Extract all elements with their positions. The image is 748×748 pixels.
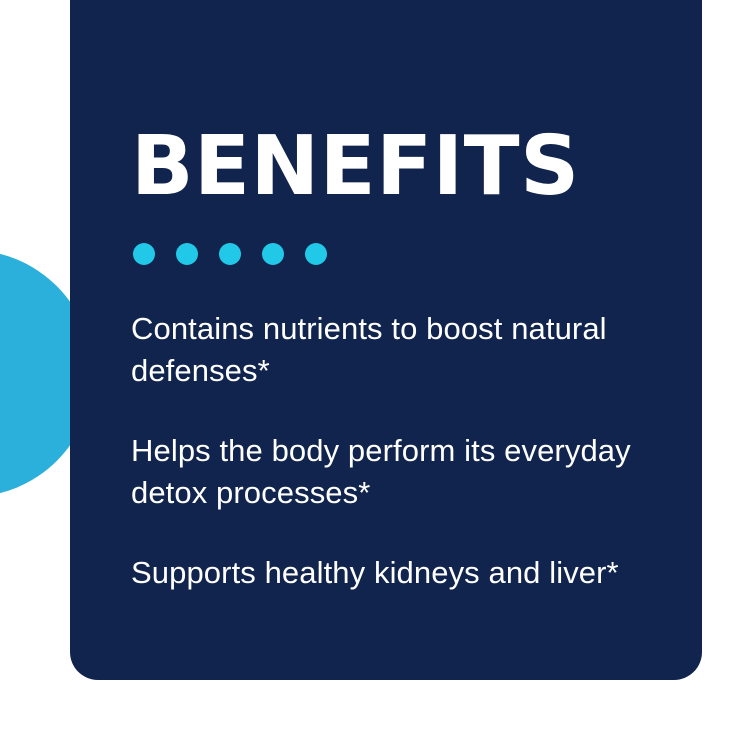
divider-dot-1 <box>133 243 155 265</box>
page-title: BENEFITS <box>131 126 580 208</box>
divider-dot-4 <box>262 243 284 265</box>
list-item: Contains nutrients to boost natural defe… <box>131 308 641 392</box>
benefit-list: Contains nutrients to boost natural defe… <box>131 308 641 594</box>
list-item: Helps the body perform its everyday deto… <box>131 430 641 514</box>
divider-dot-5 <box>305 243 327 265</box>
benefits-graphic: BENEFITS Contains nutrients to boost nat… <box>0 0 748 748</box>
list-item: Supports healthy kidneys and liver* <box>131 552 641 594</box>
benefits-card: BENEFITS Contains nutrients to boost nat… <box>70 0 702 680</box>
divider-dot-3 <box>219 243 241 265</box>
dot-divider <box>133 243 327 265</box>
divider-dot-2 <box>176 243 198 265</box>
